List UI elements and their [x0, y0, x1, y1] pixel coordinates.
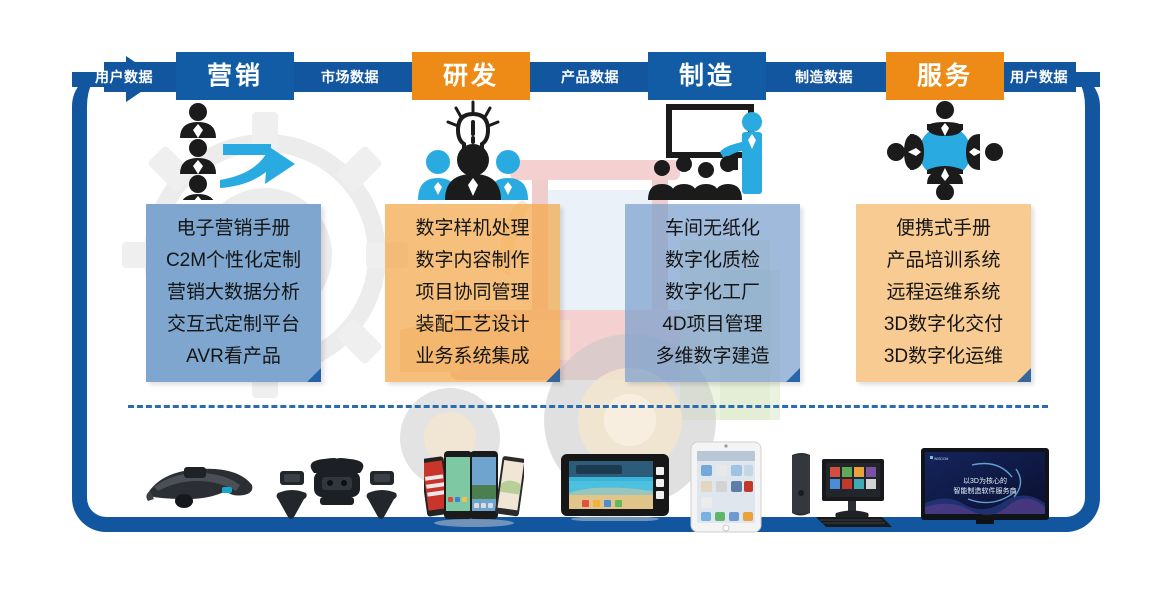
smartphones-image [424, 445, 524, 532]
list-item: 远程运维系统 [856, 277, 1031, 309]
list-item: AVR看产品 [146, 341, 321, 373]
list-box-manufacturing[interactable]: 车间无纸化 数字化质检 数字化工厂 4D项目管理 多维数字建造 [625, 204, 800, 382]
list-item: 数字内容制作 [385, 245, 560, 277]
svg-text:WISDOM: WISDOM [934, 457, 948, 461]
list-item: 业务系统集成 [385, 341, 560, 373]
list-item: 数字样机处理 [385, 213, 560, 245]
list-item: 装配工艺设计 [385, 309, 560, 341]
flow-connector-label-user-data-1: 用户数据 [88, 62, 160, 92]
list-box-rnd[interactable]: 数字样机处理 数字内容制作 项目协同管理 装配工艺设计 业务系统集成 [385, 204, 560, 382]
list-item: 数字化工厂 [625, 277, 800, 309]
box-corner-fold [786, 368, 800, 382]
list-item: 多维数字建造 [625, 341, 800, 373]
list-item: 营销大数据分析 [146, 277, 321, 309]
stage-chip-rnd[interactable]: 研发 [412, 52, 530, 100]
panel-screen-line-1: 以3D为核心的 [963, 476, 1007, 485]
desktop-computer-image [786, 449, 898, 536]
lightbulb-team-icon [408, 100, 538, 200]
flow-connector-label-market-data: 市场数据 [300, 62, 400, 92]
vr-headset-image [272, 453, 402, 528]
list-box-service[interactable]: 便携式手册 产品培训系统 远程运维系统 3D数字化交付 3D数字化运维 [856, 204, 1031, 382]
flow-connector-label-manufacturing-data: 制造数据 [774, 62, 874, 92]
list-item: 数字化质检 [625, 245, 800, 277]
stage-chip-service[interactable]: 服务 [886, 52, 1004, 100]
diagram-canvas: 用户数据 市场数据 产品数据 制造数据 用户数据 营销 研发 制造 服务 [0, 0, 1168, 606]
android-tablet-image [560, 453, 670, 526]
box-corner-fold [307, 368, 321, 382]
list-item: 产品培训系统 [856, 245, 1031, 277]
flow-connector-label-product-data: 产品数据 [540, 62, 640, 92]
list-item: 交互式定制平台 [146, 309, 321, 341]
box-corner-fold [1017, 368, 1031, 382]
people-arrow-icon [168, 100, 308, 200]
section-divider [128, 405, 1048, 408]
ar-glasses-image [140, 453, 260, 528]
flow-connector-label-user-data-2: 用户数据 [1002, 62, 1076, 92]
list-item: C2M个性化定制 [146, 245, 321, 277]
list-item: 3D数字化运维 [856, 341, 1031, 373]
list-item: 车间无纸化 [625, 213, 800, 245]
stage-chip-marketing[interactable]: 营销 [176, 52, 294, 100]
stage-chip-manufacturing[interactable]: 制造 [648, 52, 766, 100]
box-corner-fold [546, 368, 560, 382]
list-item: 电子营销手册 [146, 213, 321, 245]
list-item: 4D项目管理 [625, 309, 800, 341]
large-display-panel-image: WISDOM 以3D为核心的 智能制造软件服务商 [920, 447, 1050, 532]
roundtable-team-icon [880, 100, 1010, 200]
list-item: 3D数字化交付 [856, 309, 1031, 341]
list-item: 便携式手册 [856, 213, 1031, 245]
ipad-tablet-image [690, 441, 762, 538]
presenter-audience-icon [640, 100, 790, 200]
panel-screen-line-2: 智能制造软件服务商 [954, 486, 1017, 495]
list-item: 项目协同管理 [385, 277, 560, 309]
list-box-marketing[interactable]: 电子营销手册 C2M个性化定制 营销大数据分析 交互式定制平台 AVR看产品 [146, 204, 321, 382]
